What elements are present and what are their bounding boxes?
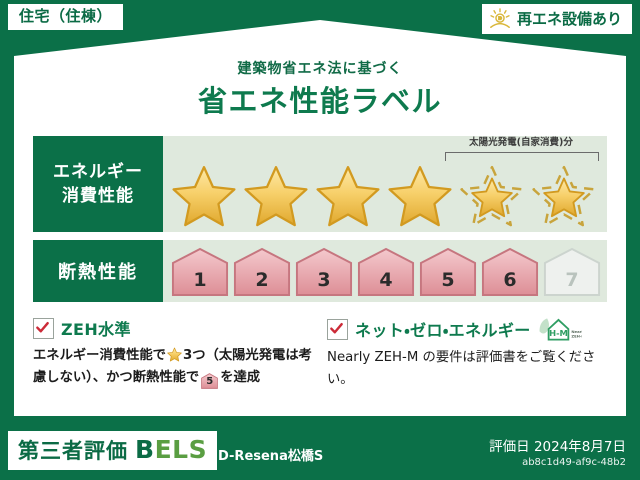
insulation-grade-value: 7 bbox=[565, 269, 578, 297]
insulation-grade-area: 1 2 3 4 bbox=[163, 240, 607, 302]
net-zero-energy-body: Nearly ZEH-M の要件は評価書をご覧ください。 bbox=[327, 347, 607, 390]
energy-rating-area: 太陽光発電(自家消費)分 bbox=[163, 136, 607, 232]
insulation-grade-badge-inactive: 7 bbox=[543, 247, 601, 297]
bels-logo-part1: B bbox=[135, 435, 155, 464]
solar-bracket bbox=[445, 152, 599, 161]
renewable-badge-text: 再エネ設備あり bbox=[517, 12, 622, 27]
insulation-grade-badge: 5 bbox=[419, 247, 477, 297]
insulation-performance-label: 断熱性能 bbox=[33, 240, 163, 302]
energy-performance-label: エネルギー 消費性能 bbox=[33, 136, 163, 232]
solar-self-consumption-note: 太陽光発電(自家消費)分 bbox=[441, 138, 601, 148]
zeh-m-logo-icon: H-M Nearly ZEH-M bbox=[538, 316, 582, 342]
insulation-performance-row: 断熱性能 1 2 bbox=[33, 240, 607, 302]
checkbox-checked bbox=[327, 319, 348, 340]
evaluation-meta: 評価日 2024年8月7日 ab8c1d49-af9c-48b2 bbox=[489, 439, 626, 468]
insulation-grade-badge: 1 bbox=[171, 247, 229, 297]
star-icon-solar bbox=[531, 164, 597, 228]
check-icon bbox=[35, 320, 50, 335]
zeh-standard-title: ZEH水準 bbox=[61, 316, 131, 340]
housing-type-text: 住宅（住棟） bbox=[19, 7, 112, 25]
evaluation-date-label: 評価日 bbox=[489, 439, 530, 455]
energy-label-line1: エネルギー bbox=[53, 160, 143, 184]
renewable-equipment-badge: 再エネ設備あり bbox=[482, 4, 632, 34]
inline-grade-badge: 5 bbox=[201, 373, 218, 389]
building-name: D-Resena松橋S bbox=[218, 445, 323, 464]
housing-type-tag: 住宅（住棟） bbox=[8, 4, 123, 30]
evaluation-id: ab8c1d49-af9c-48b2 bbox=[489, 457, 626, 468]
zeh-body-part4: を達成 bbox=[220, 370, 260, 385]
zeh-standard-body: エネルギー消費性能で 3つ（太陽光発電は考慮しない）、かつ断熱性能で 5 を達成 bbox=[33, 345, 313, 389]
third-party-evaluation-badge: 第三者評価 BELS bbox=[8, 431, 217, 470]
zeh-standard-header: ZEH水準 bbox=[33, 316, 313, 340]
energy-performance-row: エネルギー 消費性能 太陽光発電(自家消費)分 bbox=[33, 136, 607, 232]
certification-notes: ZEH水準 エネルギー消費性能で 3つ（太陽光発電は考慮しない）、かつ断熱性能で… bbox=[33, 316, 607, 390]
energy-performance-label: 住宅（住棟） 再エネ設備あり 建築物省エネ法に基づく 省エネ性能ラベル エネルギ… bbox=[0, 0, 640, 480]
star-icon bbox=[387, 164, 453, 228]
insulation-grade-value: 2 bbox=[255, 269, 268, 297]
label-title: 省エネ性能ラベル bbox=[0, 78, 640, 120]
insulation-grade-badge: 4 bbox=[357, 247, 415, 297]
net-zero-energy-header: ネット・ゼロ・エネルギー H-M Nearly ZEH-M bbox=[327, 316, 607, 342]
energy-star-rating bbox=[171, 164, 601, 228]
svg-text:ZEH-M: ZEH-M bbox=[571, 333, 582, 338]
zeh-body-part1: エネルギー消費性能で bbox=[33, 348, 166, 363]
third-party-label: 第三者評価 bbox=[18, 435, 128, 465]
insulation-grade-badge: 6 bbox=[481, 247, 539, 297]
insulation-grade-value: 4 bbox=[379, 269, 392, 297]
insulation-grade-value: 3 bbox=[317, 269, 330, 297]
star-icon bbox=[243, 164, 309, 228]
insulation-grade-scale: 1 2 3 4 bbox=[171, 247, 601, 297]
evaluation-date-value: 2024年8月7日 bbox=[534, 439, 626, 455]
energy-label-line2: 消費性能 bbox=[62, 184, 134, 208]
insulation-grade-badge: 2 bbox=[233, 247, 291, 297]
insulation-grade-badge: 3 bbox=[295, 247, 353, 297]
checkbox-checked bbox=[33, 318, 54, 339]
label-subtitle: 建築物省エネ法に基づく bbox=[0, 58, 640, 78]
insulation-grade-value: 5 bbox=[441, 269, 454, 297]
inline-grade-value: 5 bbox=[201, 373, 218, 391]
star-icon bbox=[171, 164, 237, 228]
insulation-label-text: 断熱性能 bbox=[58, 258, 138, 284]
evaluation-date: 評価日 2024年8月7日 bbox=[489, 439, 626, 455]
net-zero-energy-note: ネット・ゼロ・エネルギー H-M Nearly ZEH-M Nearly ZEH… bbox=[327, 316, 607, 390]
bels-logo-part2: ELS bbox=[155, 435, 208, 464]
insulation-grade-value: 6 bbox=[503, 269, 516, 297]
star-icon bbox=[315, 164, 381, 228]
sun-icon bbox=[488, 8, 512, 30]
star-icon-solar bbox=[459, 164, 525, 228]
zeh-standard-note: ZEH水準 エネルギー消費性能で 3つ（太陽光発電は考慮しない）、かつ断熱性能で… bbox=[33, 316, 313, 390]
star-icon-inline bbox=[167, 347, 182, 362]
check-icon bbox=[329, 321, 344, 336]
net-zero-energy-title: ネット・ゼロ・エネルギー bbox=[355, 317, 531, 341]
svg-text:H-M: H-M bbox=[549, 328, 568, 338]
insulation-grade-value: 1 bbox=[193, 269, 206, 297]
zeh-body-part2: 3つ（太陽光発電 bbox=[183, 348, 285, 363]
bels-logo: BELS bbox=[135, 435, 207, 464]
